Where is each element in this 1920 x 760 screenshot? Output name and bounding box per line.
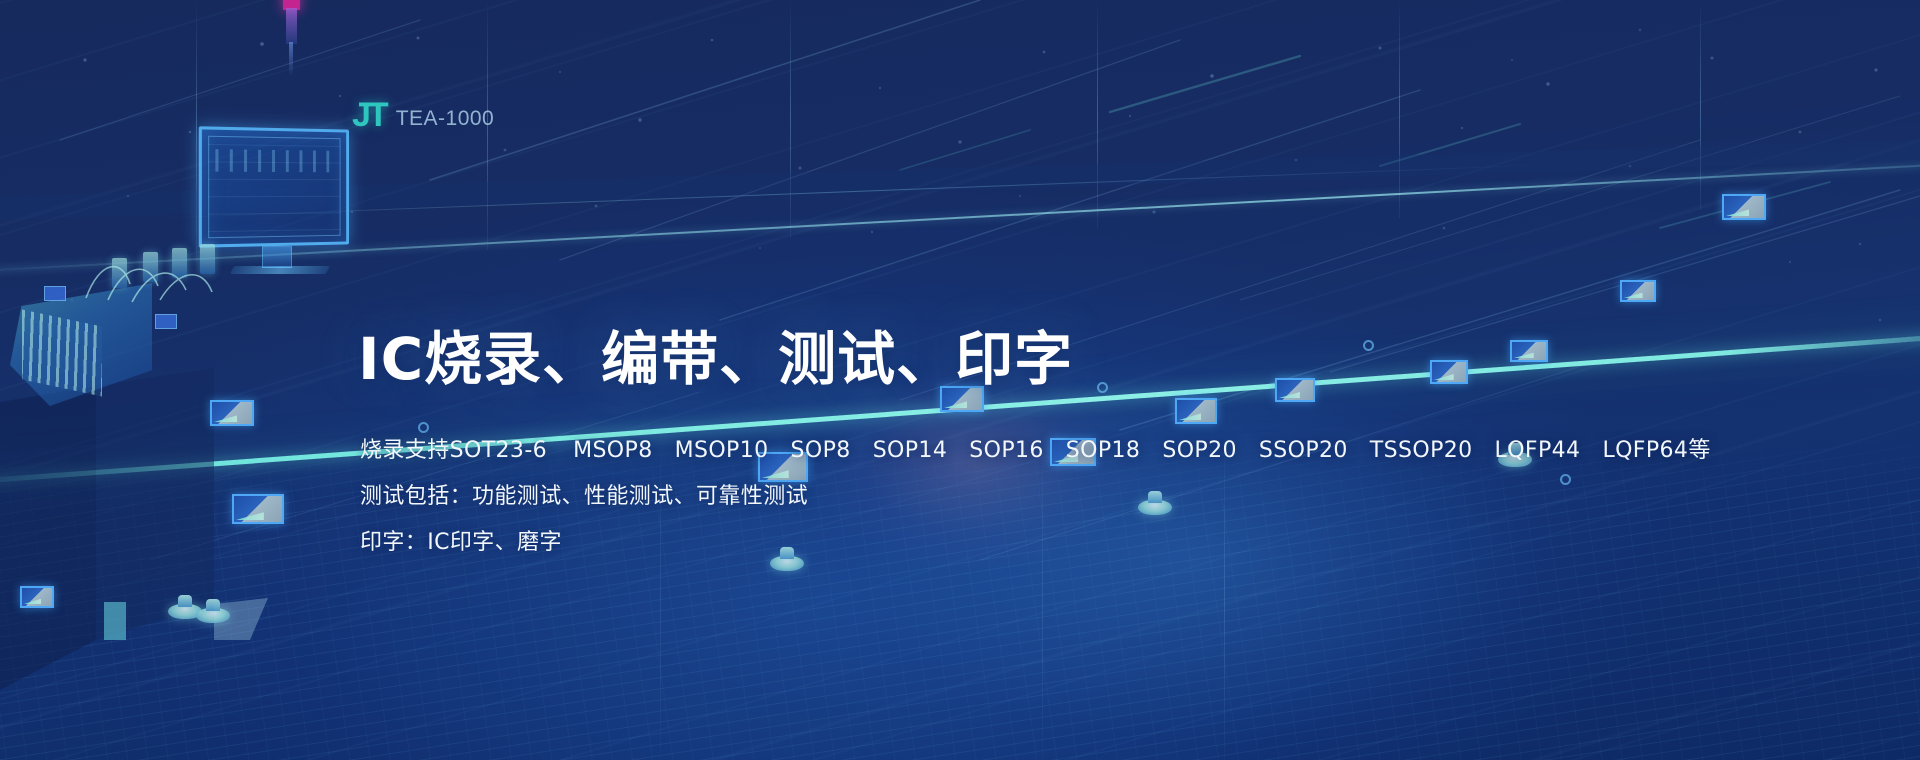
- package-chip: SOT23-6: [450, 438, 547, 463]
- package-chip: TSSOP20: [1370, 438, 1473, 463]
- page-title: IC烧录、编带、测试、印字: [358, 312, 1073, 396]
- package-chip: SOP8: [791, 438, 851, 463]
- package-chip: SOP16: [969, 438, 1044, 463]
- test-scope-line: 测试包括：功能测试、性能测试、可靠性测试: [360, 478, 808, 510]
- package-chip: MSOP10: [675, 438, 769, 463]
- burn-support-line: 烧录支持SOT23-6MSOP8MSOP10SOP8SOP14SOP16SOP1…: [360, 432, 1711, 464]
- burn-support-suffix: 等: [1688, 438, 1710, 463]
- hero-banner: JT TEA-1000 IC烧录、编带、测试、印: [0, 0, 1920, 760]
- burn-support-prefix: 烧录支持: [360, 438, 450, 463]
- banner-content: IC烧录、编带、测试、印字 烧录支持SOT23-6MSOP8MSOP10SOP8…: [0, 0, 1920, 760]
- package-chip: MSOP8: [573, 438, 653, 463]
- package-chip: SOP18: [1066, 438, 1141, 463]
- package-chip: LQFP64: [1602, 438, 1688, 463]
- marking-scope-line: 印字：IC印字、磨字: [360, 524, 562, 556]
- package-list: SOT23-6MSOP8MSOP10SOP8SOP14SOP16SOP18SOP…: [450, 438, 1689, 463]
- package-chip: SOP20: [1162, 438, 1237, 463]
- package-chip: LQFP44: [1495, 438, 1581, 463]
- package-chip: SOP14: [873, 438, 948, 463]
- package-chip: SSOP20: [1259, 438, 1348, 463]
